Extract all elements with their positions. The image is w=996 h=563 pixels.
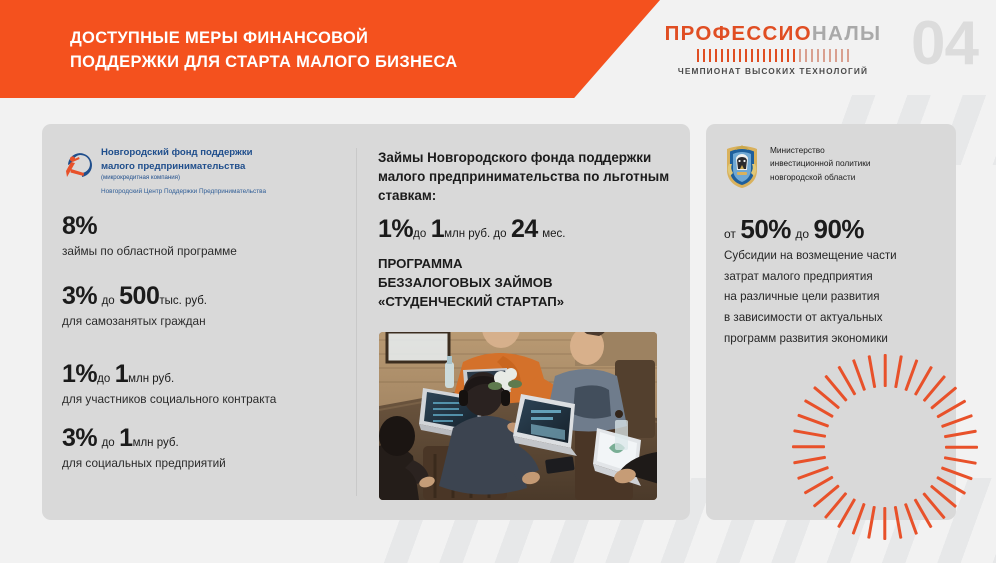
rate-description: для социальных предприятий [62, 456, 226, 470]
rate-amount: 500 [119, 282, 159, 310]
rate-percent: 1% [62, 360, 97, 388]
rate-connector: до [102, 437, 115, 449]
sunburst-rays-icon [790, 352, 980, 542]
subsidy-from-label: от [724, 227, 736, 241]
loans-heading: Займы Новгородского фонда поддержки мало… [378, 148, 678, 205]
fund-logo-note: (микрокредитная компания) [101, 173, 292, 182]
teamwork-photo [379, 332, 657, 500]
championship-subtitle: ЧЕМПИОНАТ ВЫСОКИХ ТЕХНОЛОГИЙ [648, 66, 898, 76]
rate-description: для участников социального контракта [62, 392, 276, 406]
rate-amount: 1 [115, 360, 128, 388]
novgorod-coat-of-arms-icon [722, 144, 762, 190]
rate-connector: до [102, 295, 115, 307]
subsidy-range: от 50% до 90% [724, 214, 864, 245]
rate-unit: млн руб. [133, 437, 179, 449]
championship-wordmark: ПРОФЕССИОНАЛЫ [648, 22, 898, 46]
rate-block: 3% до 1млн руб. для социальных предприят… [62, 424, 226, 470]
rate-connector: до [413, 228, 426, 240]
column-divider [356, 148, 357, 496]
rate-block: 3% до 500тыс. руб. для самозанятых гражд… [62, 282, 207, 328]
page-number: 04 [911, 8, 978, 79]
rate-percent: 1% [378, 215, 413, 243]
rate-unit: млн руб. до [444, 228, 506, 240]
student-loan-rate: 1%до 1млн руб. до 24 мес. [378, 215, 565, 244]
rate-unit: млн руб. [128, 373, 174, 385]
rate-percent: 3% [62, 282, 97, 310]
rate-percent: 8% [62, 212, 97, 240]
rate-amount: 1 [119, 424, 132, 452]
rate-term-unit: мес. [542, 228, 565, 240]
slide-canvas: ДОСТУПНЫЕ МЕРЫ ФИНАНСОВОЙ ПОДДЕРЖКИ ДЛЯ … [0, 0, 996, 563]
ministry-logo-text: Министерство инвестиционной политики нов… [770, 144, 947, 184]
rate-percent: 3% [62, 424, 97, 452]
championship-bars-icon [648, 49, 898, 62]
subsidy-to-value: 90% [814, 214, 865, 244]
fund-logo-name-line2: малого предпринимательства [101, 160, 292, 174]
rate-description: займы по областной программе [62, 244, 237, 258]
subsidy-from-value: 50% [740, 214, 791, 244]
championship-logo: ПРОФЕССИОНАЛЫ ЧЕМПИОНАТ ВЫСОКИХ ТЕХНОЛОГ… [648, 22, 898, 76]
rate-term-amount: 24 [511, 215, 538, 243]
rate-unit: тыс. руб. [159, 295, 207, 307]
page-title: ДОСТУПНЫЕ МЕРЫ ФИНАНСОВОЙ ПОДДЕРЖКИ ДЛЯ … [70, 27, 570, 75]
championship-wordmark-muted: НАЛЫ [812, 22, 882, 45]
rate-connector: до [97, 373, 110, 385]
championship-wordmark-accent: ПРОФЕССИО [665, 22, 812, 45]
program-name: ПРОГРАММА БЕЗЗАЛОГОВЫХ ЗАЙМОВ «СТУДЕНЧЕС… [378, 254, 668, 311]
fund-logo-center: Новгородский Центр Поддержки Предпринима… [101, 188, 292, 195]
subsidy-description: Субсидии на возмещение части затрат мало… [724, 246, 946, 349]
subsidy-to-label: до [795, 227, 809, 241]
rate-amount: 1 [431, 215, 444, 243]
fund-logo-name-line1: Новгородский фонд поддержки [101, 146, 292, 160]
rate-block: 1%до 1млн руб. для участников социальног… [62, 360, 276, 406]
ministry-logo: Министерство инвестиционной политики нов… [722, 144, 947, 184]
rate-block: 8% займы по областной программе [62, 212, 237, 258]
rate-description: для самозанятых граждан [62, 314, 207, 328]
person-swoosh-icon [62, 149, 94, 181]
fund-logo: Новгородский фонд поддержки малого предп… [62, 146, 292, 195]
